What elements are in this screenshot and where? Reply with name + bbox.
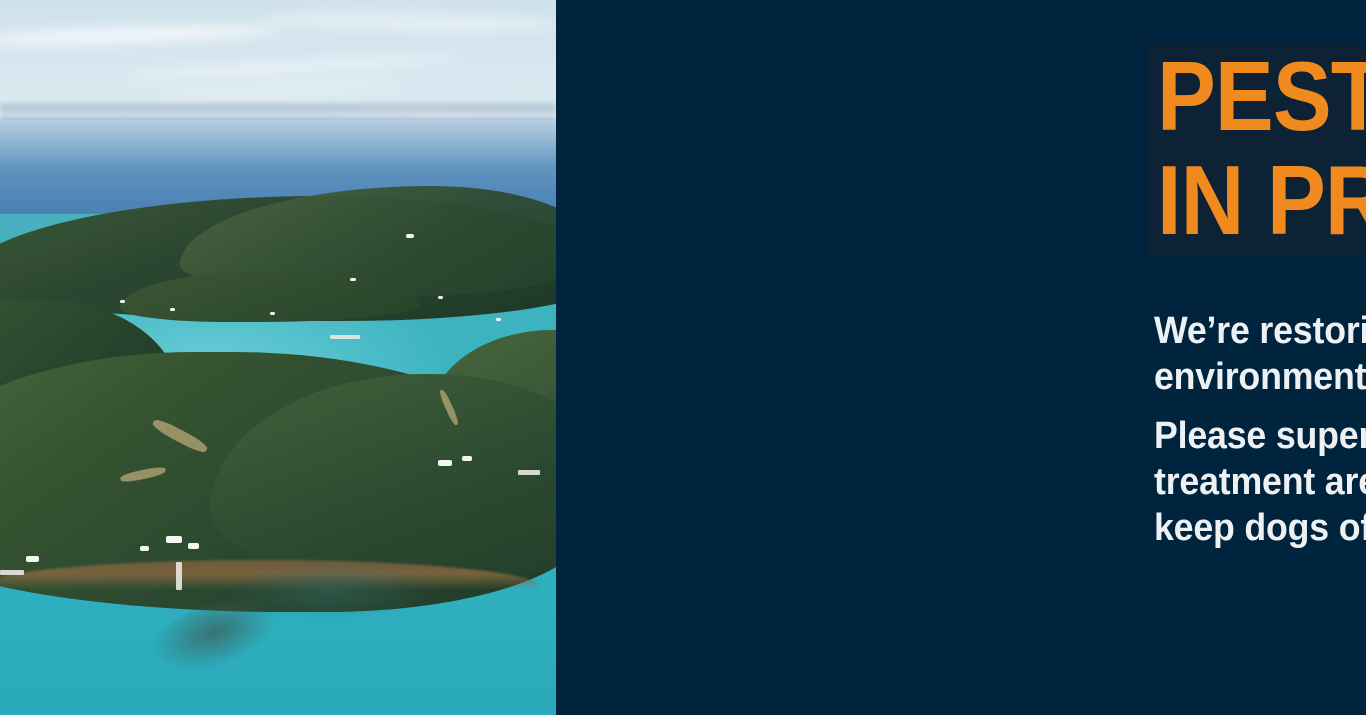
boat [496,318,501,321]
headline-line-1: PEST CONTROL [1148,44,1366,152]
headline-line-2: IN PROGRESS [1148,148,1366,256]
boat [120,300,125,303]
aerial-photo-kawau-island [0,0,556,715]
building [140,546,149,551]
jetty [518,470,540,475]
jetty [0,570,24,575]
page-title: PEST CONTROL IN PROGRESS [1148,44,1366,256]
boat [350,278,356,281]
building [188,543,199,549]
building [438,460,452,466]
building [462,456,472,461]
building [26,556,39,562]
building [406,234,414,238]
body-paragraph-1: We’re restoring Kawau Island’s natural e… [1154,308,1366,400]
boat [270,312,275,315]
boat [170,308,175,311]
ocean-sheen [0,120,556,166]
wake-trail [330,335,360,339]
pest-control-poster: PEST CONTROL IN PROGRESS We’re restoring… [0,0,1366,715]
jetty [176,562,182,590]
building [166,536,182,543]
message-panel: PEST CONTROL IN PROGRESS We’re restoring… [556,0,1366,715]
boat [438,296,443,299]
body-paragraph-2: Please supervise children, avoid treatme… [1154,413,1366,551]
body-copy: We’re restoring Kawau Island’s natural e… [1154,308,1366,551]
